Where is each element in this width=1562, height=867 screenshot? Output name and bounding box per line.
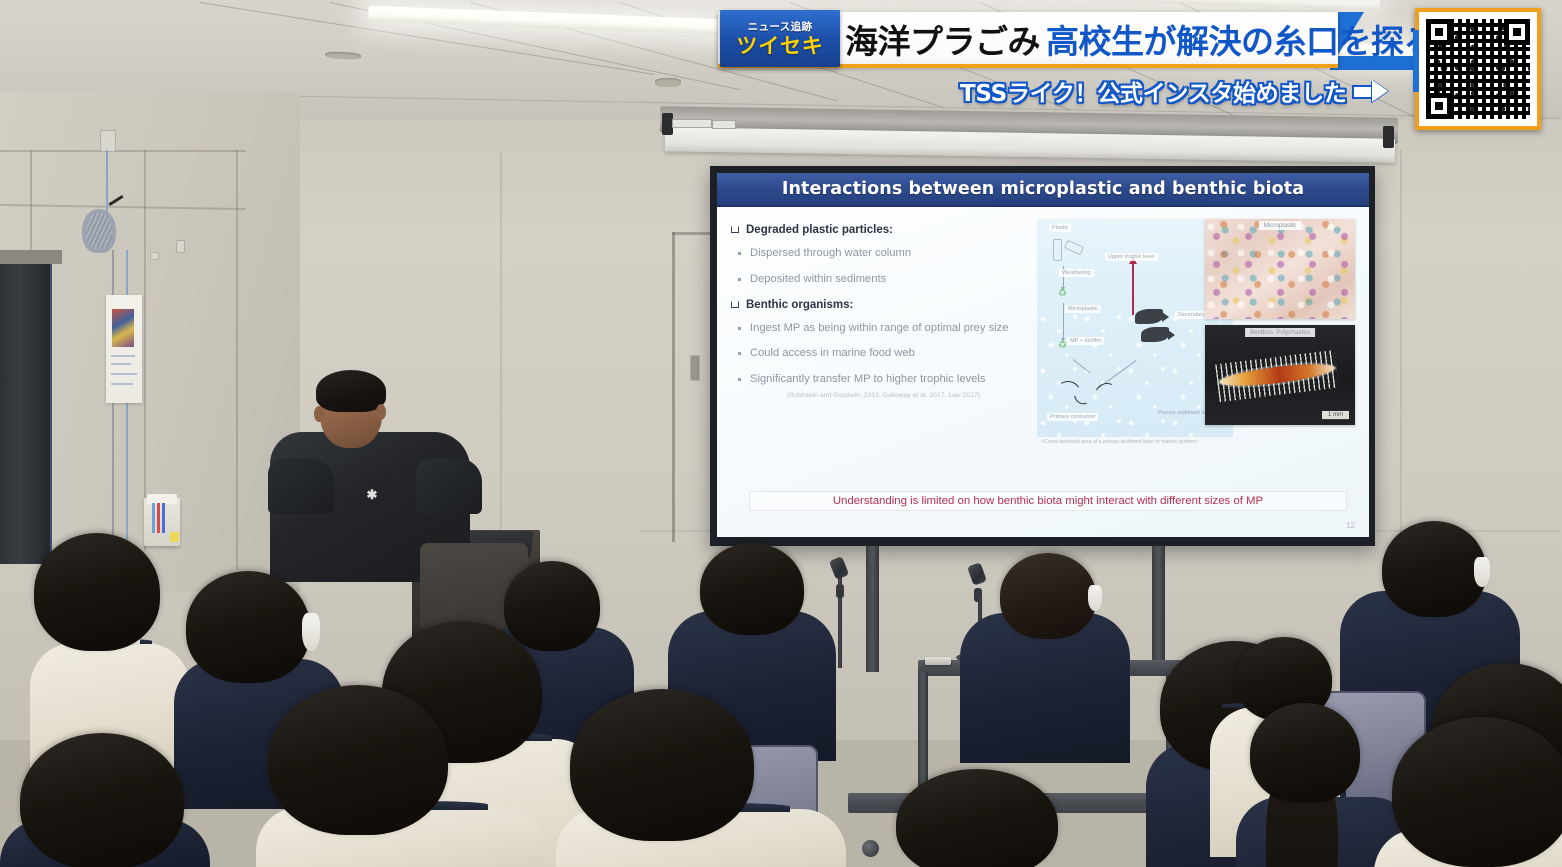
audience-head <box>1392 717 1562 867</box>
face-mask <box>1474 557 1490 587</box>
face-mask <box>1088 585 1102 611</box>
bullet-item-label: Ingest MP as being within range of optim… <box>750 321 1009 336</box>
diagram-label-upper-trophic: Upper trophic level <box>1105 253 1158 261</box>
wall-outlet[interactable] <box>176 240 185 253</box>
bullet-item-label: Deposited within sediments <box>750 272 886 287</box>
slide-body: Degraded plastic particles: Dispersed th… <box>717 207 1369 537</box>
qr-finder-icon <box>1426 93 1452 119</box>
fish-icon <box>1135 309 1163 324</box>
door-handle[interactable] <box>690 355 700 381</box>
audience-head <box>700 543 804 635</box>
display-screen: Interactions between microplastic and be… <box>717 173 1369 537</box>
qr-finder-icon <box>1504 19 1530 45</box>
badge-big-label: ツイセキ <box>736 35 823 57</box>
poster-text-line <box>111 373 137 375</box>
presenter-hair <box>316 370 386 412</box>
qr-blue-edge <box>1413 30 1419 92</box>
coiled-cable <box>82 209 116 253</box>
presenter-ear <box>376 404 386 420</box>
slide-citation: (Goldstein and Goodwin, 2013, Galloway e… <box>787 392 1031 399</box>
plastic-bottle-icon <box>1064 240 1084 256</box>
diagram-label-plastic: Plastic <box>1049 224 1071 232</box>
diagram-label-microplastic: Microplastic <box>1065 305 1101 313</box>
promo-subbanner: TSSライク！公式インスタ始めました <box>960 76 1388 106</box>
dot-bullet-icon <box>738 252 741 255</box>
bullet-heading: Degraded plastic particles: <box>731 223 1031 237</box>
benthos-photo: Benthos: Polychaetes 1 mm <box>1205 325 1355 425</box>
audience-head <box>268 685 448 835</box>
bullet-item: Ingest MP as being within range of optim… <box>738 321 1031 336</box>
checkbox-bullet-icon <box>731 226 739 233</box>
bullet-heading-label: Degraded plastic particles: <box>746 223 893 237</box>
door-edge <box>672 232 675 542</box>
scale-bar: 1 mm <box>1322 411 1349 420</box>
microplastic-arrow-icon <box>1063 303 1064 339</box>
bullet-heading: Benthic organisms: <box>731 298 1031 312</box>
audience <box>0 507 1562 867</box>
broadcast-screenshot: Interactions between microplastic and be… <box>0 0 1562 867</box>
bullet-item: Dispersed through water column <box>738 246 1031 261</box>
audience-head <box>34 533 160 651</box>
audience-head <box>896 769 1058 867</box>
broadcast-overlay: ニュース追跡 ツイセキ 海洋プラごみ 高校生が解決の糸口を探る TSSライク！公… <box>0 0 1562 145</box>
bullet-item-label: Could access in marine food web <box>750 346 915 361</box>
cable <box>106 150 108 212</box>
wall-outlet[interactable] <box>150 252 159 260</box>
bullet-item-label: Significantly transfer MP to higher trop… <box>750 372 985 387</box>
arrow-tip <box>1372 80 1388 102</box>
dot-bullet-icon <box>738 378 741 381</box>
news-headline: 海洋プラごみ 高校生が解決の糸口を探る <box>845 13 1436 65</box>
arrow-shaft <box>1354 87 1374 97</box>
diagram-label-mp-biofilm: MP + biofilm <box>1067 337 1104 345</box>
door-edge <box>672 232 712 235</box>
poster-text-line <box>111 355 135 357</box>
fish-icon <box>1141 327 1169 342</box>
audience-head <box>570 689 754 841</box>
arrow-right-icon <box>1354 80 1388 102</box>
sediment-schematic-diagram: Plastic Weathering ♻ Microplastic ♻ MP +… <box>1037 219 1233 437</box>
headline-topic: 海洋プラごみ <box>845 15 1040 63</box>
presenter-ear <box>314 406 324 422</box>
presentation-display: Interactions between microplastic and be… <box>710 166 1375 546</box>
presenter-arm-left <box>268 458 334 514</box>
audience-head <box>1382 521 1486 617</box>
checkbox-bullet-icon <box>731 301 739 308</box>
poster-text-line <box>111 363 131 365</box>
program-badge: ニュース追跡 ツイセキ <box>720 10 840 67</box>
door-frame <box>0 250 62 264</box>
wall-poster <box>106 295 142 403</box>
dot-bullet-icon <box>738 278 741 281</box>
badge-small-label: ニュース追跡 <box>748 19 813 34</box>
qr-code[interactable] <box>1415 8 1541 130</box>
bullet-item: Could access in marine food web <box>738 346 1031 361</box>
poster-image <box>112 309 134 347</box>
face-mask <box>302 613 320 651</box>
bullet-item: Deposited within sediments <box>738 272 1031 287</box>
presenter-arm-right <box>416 458 482 514</box>
slide-bullet-column: Degraded plastic particles: Dispersed th… <box>731 217 1031 537</box>
audience-head <box>1000 553 1096 639</box>
poster-text-line <box>111 383 133 385</box>
microplastic-photo-caption: Microplastic <box>1259 221 1302 230</box>
qr-finder-icon <box>1426 19 1452 45</box>
wall-seam <box>144 150 146 550</box>
benthos-photo-caption: Benthos: Polychaetes <box>1245 328 1315 337</box>
recycle-icon: ♻ <box>1058 289 1068 298</box>
slide: Interactions between microplastic and be… <box>717 173 1369 537</box>
qr-pattern <box>1426 19 1530 119</box>
microplastic-photo: Microplastic <box>1205 219 1355 319</box>
hoodie-logo: ✱ <box>362 488 382 501</box>
slide-figure-column: Plastic Weathering ♻ Microplastic ♻ MP +… <box>1031 217 1359 537</box>
slide-title-bar: Interactions between microplastic and be… <box>717 173 1369 207</box>
diagram-label-primary-consumer: Primary consumer <box>1047 413 1098 421</box>
dot-bullet-icon <box>738 352 741 355</box>
bullet-item-label: Dispersed through water column <box>750 246 911 261</box>
plastic-bottle-icon <box>1053 239 1062 261</box>
audience-head <box>20 733 184 867</box>
audience-head <box>186 571 310 683</box>
audience-head <box>1250 703 1360 803</box>
slide-title: Interactions between microplastic and be… <box>782 179 1304 199</box>
wall-seam <box>0 150 246 152</box>
dot-bullet-icon <box>738 327 741 330</box>
headline-subject: 高校生が解決の糸口を探る <box>1046 15 1436 63</box>
bullet-heading-label: Benthic organisms: <box>746 298 853 312</box>
promo-text: TSSライク！公式インスタ始めました <box>960 74 1346 108</box>
diagram-label-weathering: Weathering <box>1059 269 1094 277</box>
wall-seam <box>500 152 502 542</box>
upper-trophic-arrow-icon <box>1132 263 1134 315</box>
audience-head <box>504 561 600 651</box>
bullet-item: Significantly transfer MP to higher trop… <box>738 372 1031 387</box>
